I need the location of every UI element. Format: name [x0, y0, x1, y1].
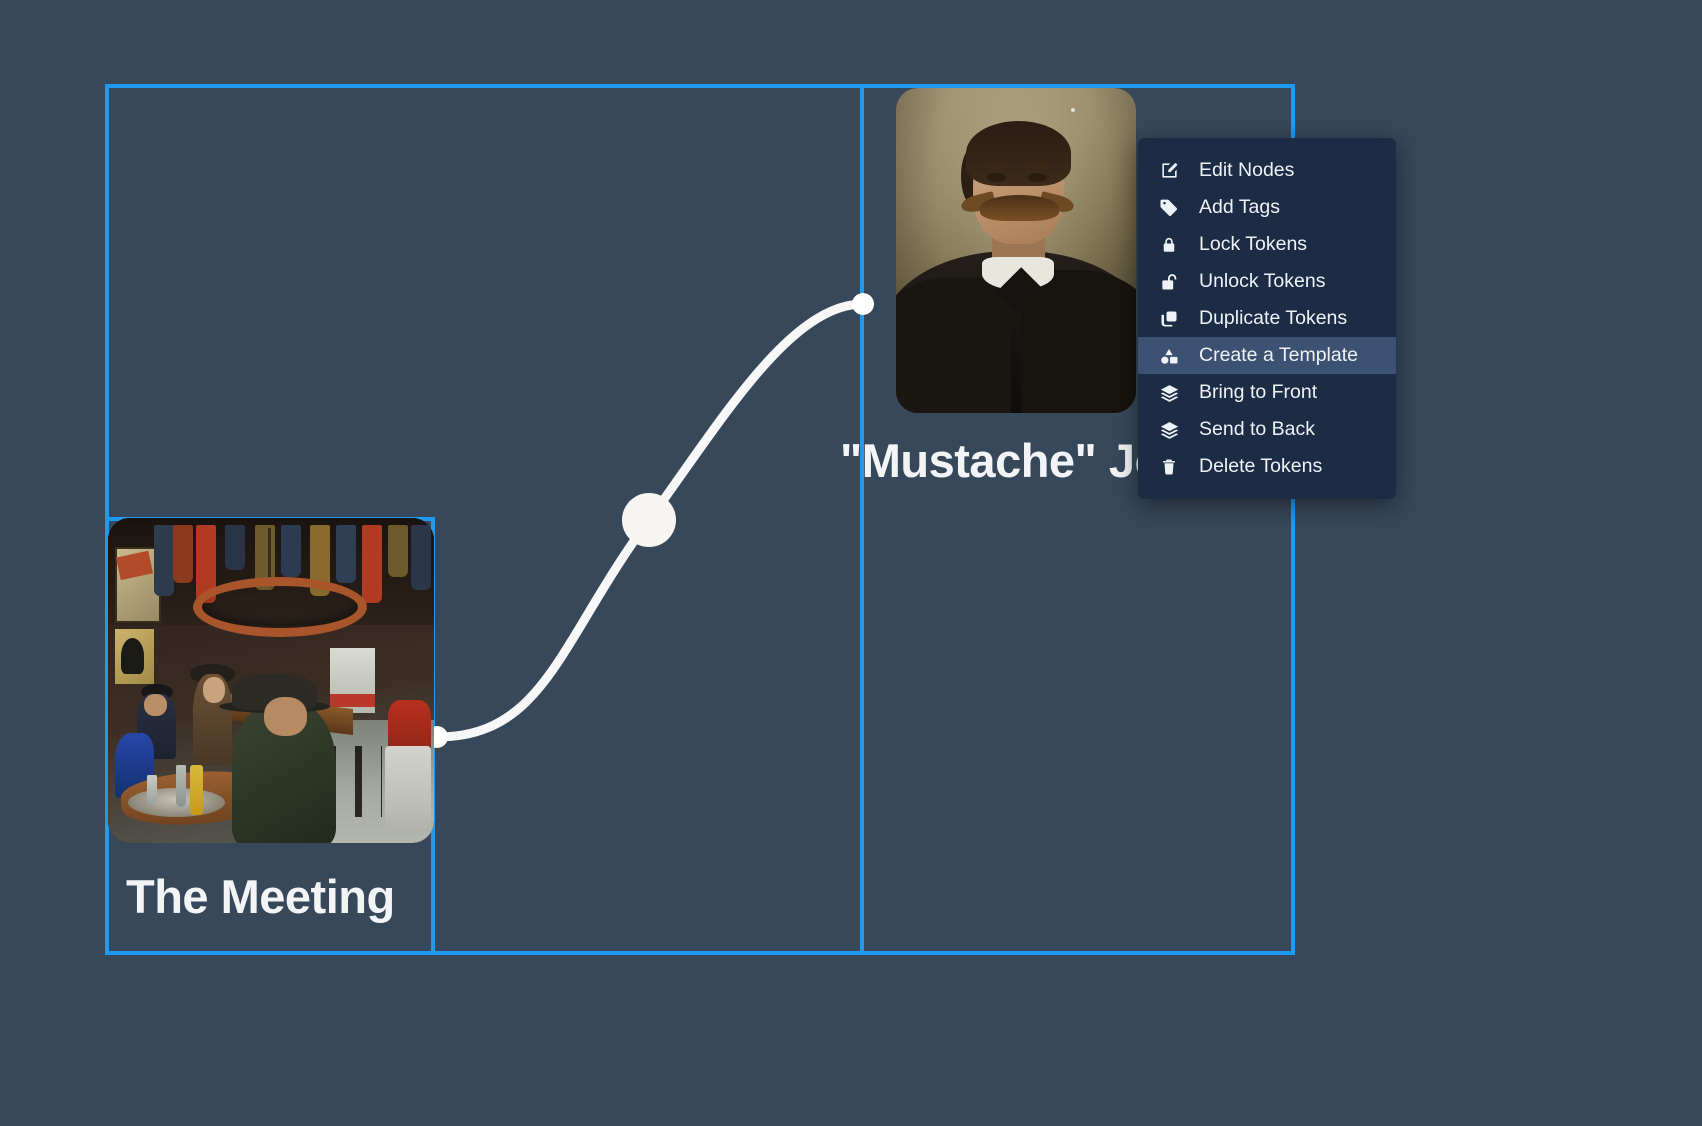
menu-item-label: Edit Nodes: [1199, 161, 1294, 181]
lock-open-icon: [1156, 271, 1182, 293]
menu-item-duplicate-tokens[interactable]: Duplicate Tokens: [1138, 300, 1396, 337]
token-label-the-meeting: The Meeting: [126, 869, 434, 924]
layers-icon: [1156, 382, 1182, 404]
shapes-icon: [1156, 345, 1182, 367]
layers-icon: [1156, 419, 1182, 441]
token-card-the-meeting[interactable]: The Meeting: [108, 518, 434, 924]
menu-item-delete-tokens[interactable]: Delete Tokens: [1138, 448, 1396, 485]
menu-item-bring-to-front[interactable]: Bring to Front: [1138, 374, 1396, 411]
connector-handle-middle: [622, 493, 676, 547]
cafe-interior-painting: [108, 518, 434, 843]
menu-item-create-a-template[interactable]: Create a Template: [1138, 337, 1396, 374]
token-label-mustache-joe: "Mustache" Jo: [840, 433, 1163, 488]
context-menu[interactable]: Edit Nodes Add Tags Lock Tokens: [1138, 138, 1396, 499]
menu-item-label: Delete Tokens: [1199, 457, 1322, 477]
menu-item-add-tags[interactable]: Add Tags: [1138, 189, 1396, 226]
menu-item-label: Send to Back: [1199, 420, 1315, 440]
menu-item-label: Create a Template: [1199, 346, 1358, 366]
connector-handle-end: [852, 293, 874, 315]
menu-item-label: Duplicate Tokens: [1199, 309, 1347, 329]
menu-item-label: Lock Tokens: [1199, 235, 1307, 255]
token-thumbnail-the-meeting[interactable]: [108, 518, 434, 843]
menu-item-send-to-back[interactable]: Send to Back: [1138, 411, 1396, 448]
menu-item-label: Unlock Tokens: [1199, 272, 1325, 292]
token-thumbnail-mustache-joe[interactable]: [896, 88, 1136, 413]
menu-item-unlock-tokens[interactable]: Unlock Tokens: [1138, 263, 1396, 300]
menu-item-label: Bring to Front: [1199, 383, 1317, 403]
menu-item-edit-nodes[interactable]: Edit Nodes: [1138, 152, 1396, 189]
duplicate-icon: [1156, 308, 1182, 330]
lock-closed-icon: [1156, 234, 1182, 256]
token-card-mustache-joe[interactable]: "Mustache" Jo: [896, 88, 1163, 488]
menu-item-lock-tokens[interactable]: Lock Tokens: [1138, 226, 1396, 263]
vintage-mustache-portrait: [896, 88, 1136, 413]
menu-item-label: Add Tags: [1199, 198, 1280, 218]
edit-pencil-icon: [1156, 160, 1182, 182]
tag-icon: [1156, 197, 1182, 219]
trash-icon: [1156, 456, 1182, 478]
graph-canvas[interactable]: The Meeting: [0, 0, 1702, 1126]
